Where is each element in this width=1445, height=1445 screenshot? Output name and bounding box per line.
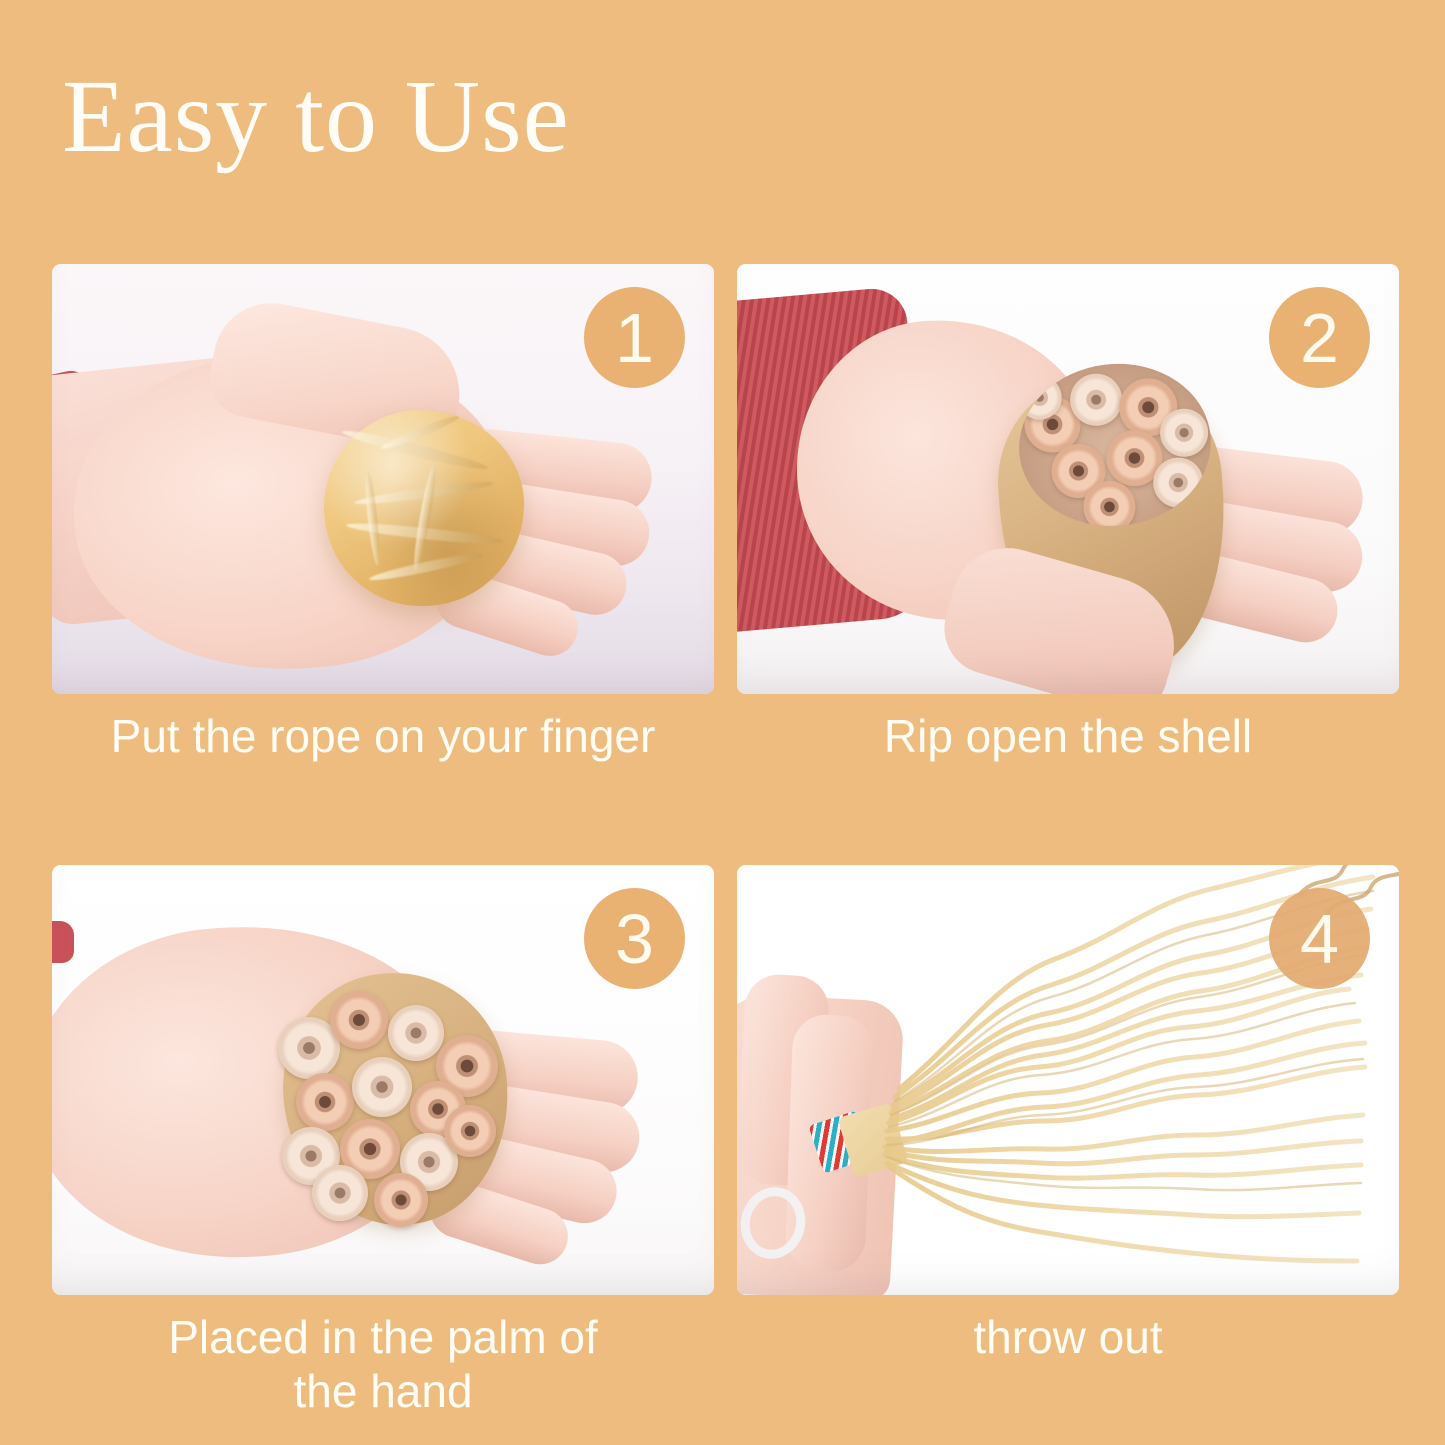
wrapped-ball: [324, 410, 524, 606]
step-card-4: 4 throw out: [737, 865, 1399, 1295]
red-sleeve: [52, 921, 74, 963]
step-caption-3: Placed in the palm of the hand: [52, 1311, 714, 1419]
step-caption-1: Put the rope on your finger: [52, 710, 714, 764]
step-photo-3: 3: [52, 865, 714, 1295]
step-number-badge-3: 3: [584, 888, 685, 989]
step-card-3: 3 Placed in the palm of the hand: [52, 865, 714, 1295]
step-photo-1: 1: [52, 264, 714, 694]
step-caption-4: throw out: [737, 1311, 1399, 1365]
caption-line-2: the hand: [52, 1365, 714, 1419]
caption-line-1: Placed in the palm of: [52, 1311, 714, 1365]
step-number-badge-1: 1: [584, 287, 685, 388]
infographic-page: Easy to Use: [0, 0, 1445, 1445]
step-photo-4: 4: [737, 865, 1399, 1295]
step-caption-2: Rip open the shell: [737, 710, 1399, 764]
page-title: Easy to Use: [62, 62, 570, 171]
step-card-2: 2 Rip open the shell: [737, 264, 1399, 694]
step-card-1: 1 Put the rope on your finger: [52, 264, 714, 694]
coiled-rolls-cluster: [278, 969, 514, 1231]
step-photo-2: 2: [737, 264, 1399, 694]
steps-grid: 1 Put the rope on your finger: [52, 264, 1393, 1294]
step-number-badge-2: 2: [1269, 287, 1370, 388]
step-number-badge-4: 4: [1269, 888, 1370, 989]
